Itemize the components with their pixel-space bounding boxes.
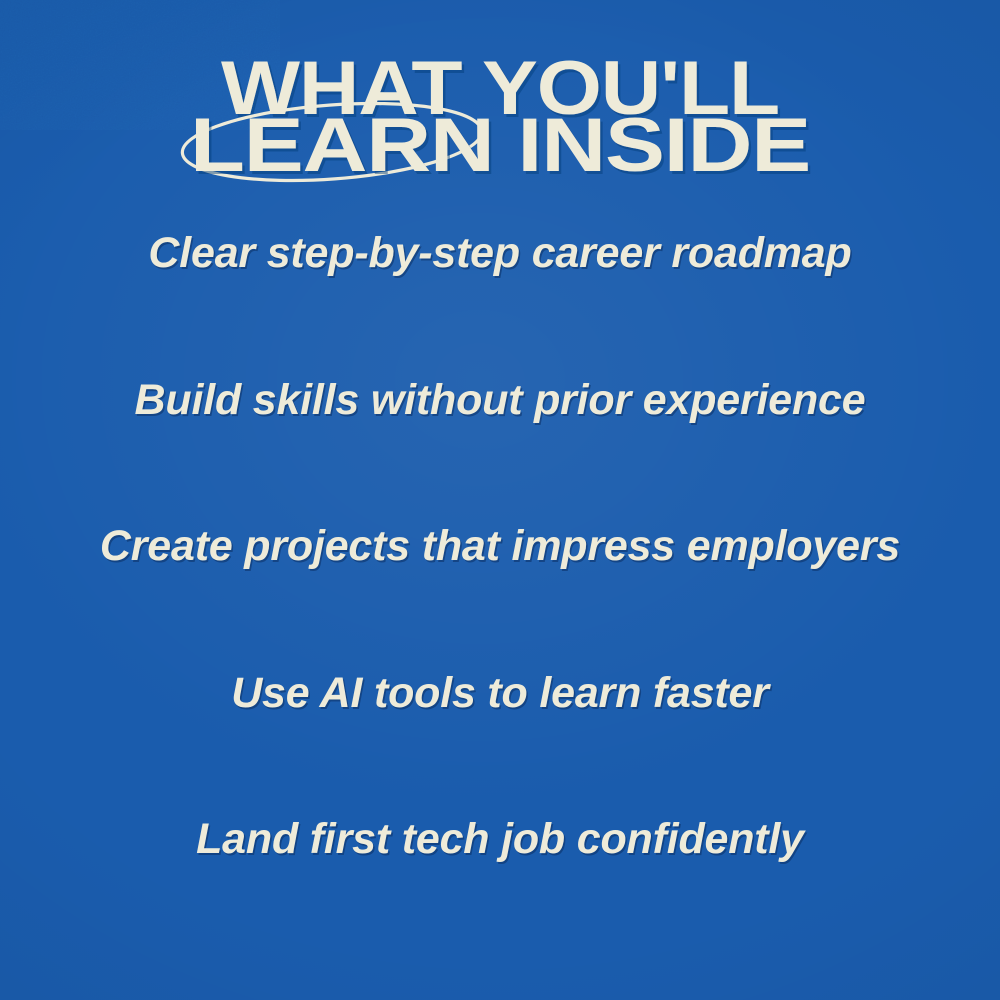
headline-line-2: LEARN INSIDE <box>190 103 810 188</box>
poster-canvas: WHAT YOU'LL LEARN INSIDE Clear step-by-s… <box>0 0 1000 1000</box>
benefit-item-4-label: Use AI tools to learn faster <box>231 672 769 715</box>
benefit-item-3-label: Create projects that impress employers <box>100 525 900 568</box>
headline-block: WHAT YOU'LL LEARN INSIDE <box>0 46 1000 186</box>
benefit-item-4: Use AI tools to learn faster <box>0 672 1000 819</box>
benefit-item-5: Land first tech job confidently <box>0 818 1000 965</box>
headline-svg: WHAT YOU'LL LEARN INSIDE <box>0 46 1000 186</box>
benefit-item-5-label: Land first tech job confidently <box>196 818 804 861</box>
benefit-item-3: Create projects that impress employers <box>0 525 1000 672</box>
benefit-item-2-label: Build skills without prior experience <box>135 379 866 422</box>
benefit-item-2: Build skills without prior experience <box>0 379 1000 526</box>
benefit-item-1: Clear step-by-step career roadmap <box>0 232 1000 379</box>
benefit-item-1-label: Clear step-by-step career roadmap <box>148 232 851 275</box>
benefit-list: Clear step-by-step career roadmap Build … <box>0 232 1000 965</box>
